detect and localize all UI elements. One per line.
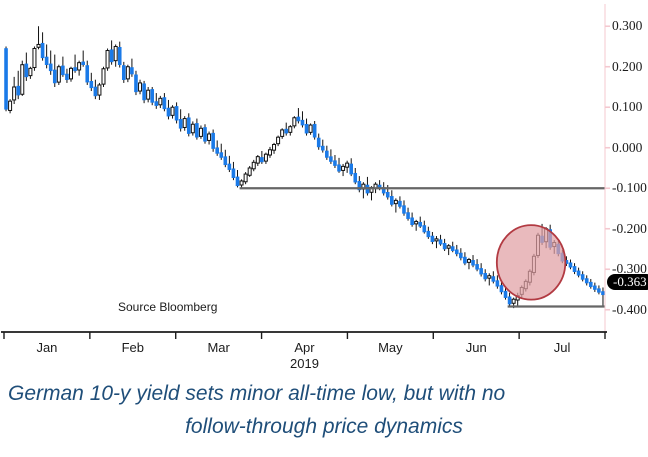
y-tick-label: 0.200 [612,59,642,75]
x-tick-label: Jul [532,340,592,355]
y-tick-label: 0.100 [612,99,642,115]
y-tick-label: 0.000 [612,140,642,156]
x-tick-label: Jun [446,340,506,355]
x-tick-label: Jan [17,340,77,355]
x-tick-label: Feb [103,340,163,355]
x-tick-label: May [360,340,420,355]
x-tick-label: Mar [189,340,249,355]
figure-caption: German 10-y yield sets minor all-time lo… [0,377,648,443]
y-tick-label: -0.400 [612,302,647,318]
source-note: Source Bloomberg [118,300,217,314]
chart-figure: 0.3000.2000.1000.000-0.100-0.200-0.300-0… [0,0,648,457]
y-tick-label: -0.200 [612,221,647,237]
y-tick-label: 0.300 [612,18,642,34]
caption-line-2: follow-through price dynamics [0,410,648,443]
y-tick-label: -0.100 [612,180,647,196]
highlight-ellipse-group [497,225,566,300]
x-axis-year-label: 2019 [275,356,335,371]
x-tick-label: Apr [275,340,335,355]
caption-line-1: German 10-y yield sets minor all-time lo… [0,377,648,410]
last-price-badge: -0.363 [607,274,648,290]
